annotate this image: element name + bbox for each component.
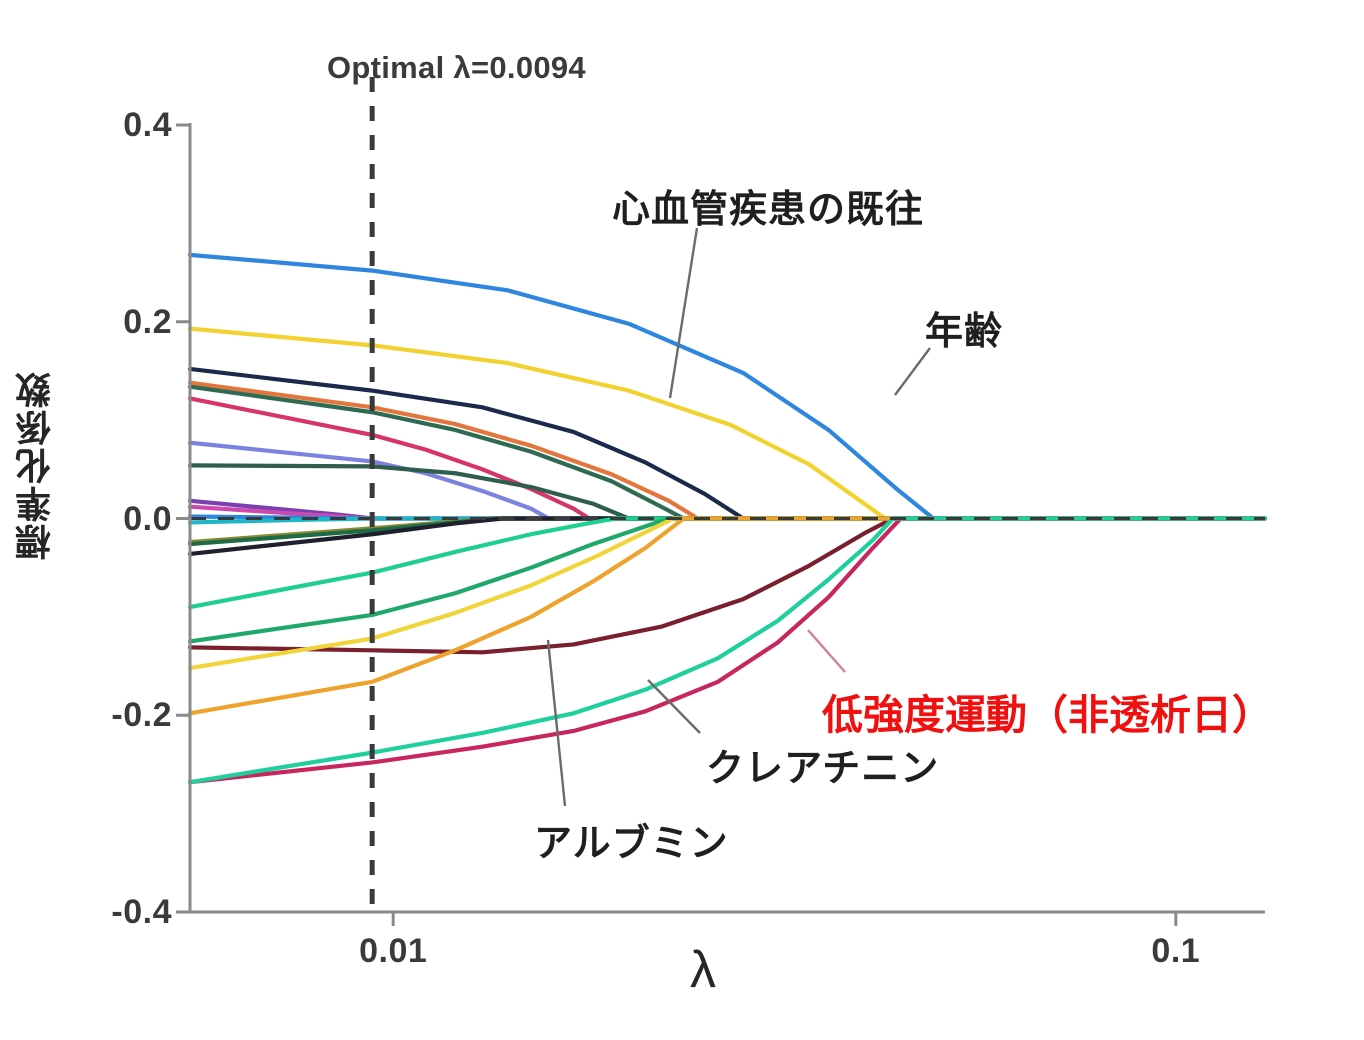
annotation-creatinine: クレアチニン <box>706 737 939 792</box>
x-axis-title: λ <box>690 940 716 1000</box>
annotation-low-intensity-exercise-leader-line <box>808 630 845 672</box>
y-tick-label-0: 0.4 <box>60 108 172 142</box>
y-tick-label-4: -0.4 <box>60 895 172 929</box>
y-tick-label-2: 0.0 <box>60 502 172 536</box>
series-line-series-yellow-top <box>190 329 1265 519</box>
y-tick-label-3: -0.2 <box>60 698 172 732</box>
annotation-albumin: アルブミン <box>534 812 729 867</box>
lasso-coefficient-path-plot <box>0 0 1364 1040</box>
annotation-albumin-leader-line <box>548 640 565 806</box>
annotation-cardiovascular-history-leader-line <box>670 228 697 398</box>
annotation-low-intensity-exercise: 低強度運動（非透析日） <box>822 681 1273 741</box>
annotation-age: 年齢 <box>925 300 1003 355</box>
annotation-cardiovascular-history: 心血管疾患の既往 <box>612 178 924 233</box>
chart-figure: Optimal λ=0.0094 標準化係数 λ 0.40.20.0-0.2-0… <box>0 0 1364 1040</box>
y-tick-label-1: 0.2 <box>60 305 172 339</box>
series-line-series-darkgreen2 <box>190 519 1265 545</box>
series-line-series-navy <box>190 369 1265 519</box>
annotation-age-leader-line <box>895 348 930 395</box>
series-line-series-black <box>190 519 1265 554</box>
chart-title: Optimal λ=0.0094 <box>327 50 586 86</box>
x-tick-label-1: 0.1 <box>1076 934 1276 968</box>
series-line-series-orange <box>190 383 1265 519</box>
series-line-series-yellow-lower <box>190 519 1265 669</box>
x-tick-label-0: 0.01 <box>293 934 493 968</box>
